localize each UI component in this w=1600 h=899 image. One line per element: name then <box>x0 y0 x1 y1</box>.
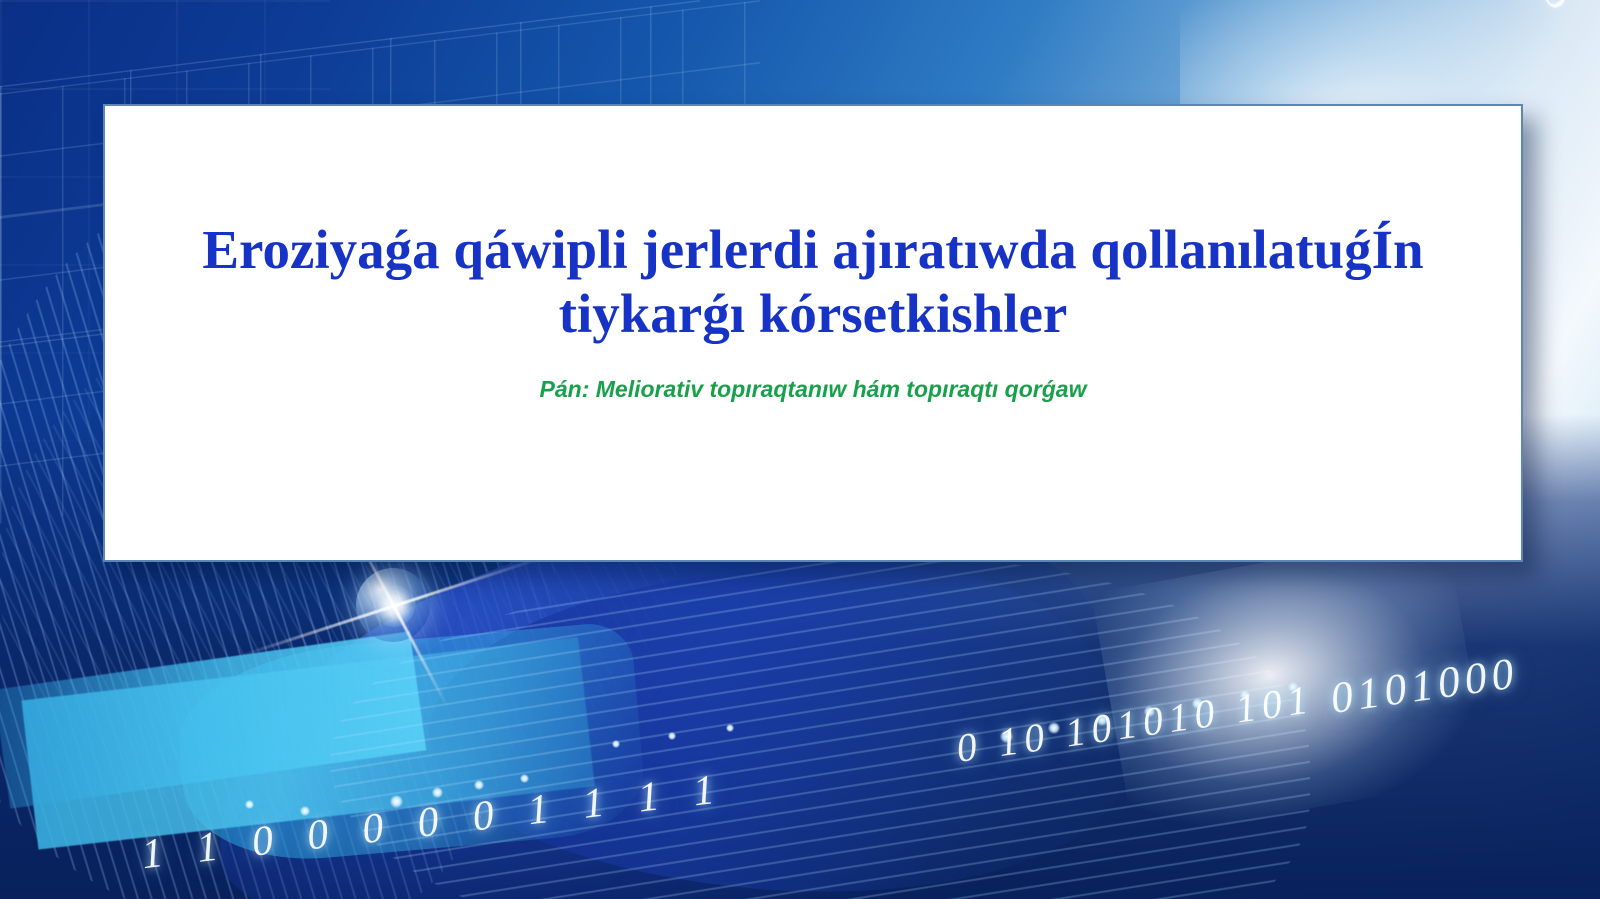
glow-dot-icon <box>474 780 484 790</box>
glow-dot-icon <box>245 800 254 809</box>
background-binary-bottom-right-primary: 0 10 101010 101 <box>953 675 1316 772</box>
starburst-core <box>373 585 415 627</box>
slide-title: Eroziyaǵa qáwipli jerlerdi ajıratıwda qo… <box>105 218 1521 347</box>
background-binary-bottom-right-secondary: 0101000 <box>1327 647 1521 724</box>
presentation-slide: 32173285 1 1 0 0 0 0 0 1 1 1 1 0 10 1010… <box>0 0 1600 899</box>
background-binary-bottom-left: 1 1 0 0 0 0 0 1 1 1 1 <box>139 765 729 879</box>
glow-dot-icon <box>520 774 529 783</box>
background-digits-top-right: 32173285 <box>1428 0 1592 22</box>
starburst-flare-icon <box>336 548 452 664</box>
title-card: Eroziyaǵa qáwipli jerlerdi ajıratıwda qo… <box>103 104 1523 562</box>
slide-subtitle: Pán: Meliorativ topıraqtanıw hám topıraq… <box>105 375 1521 405</box>
